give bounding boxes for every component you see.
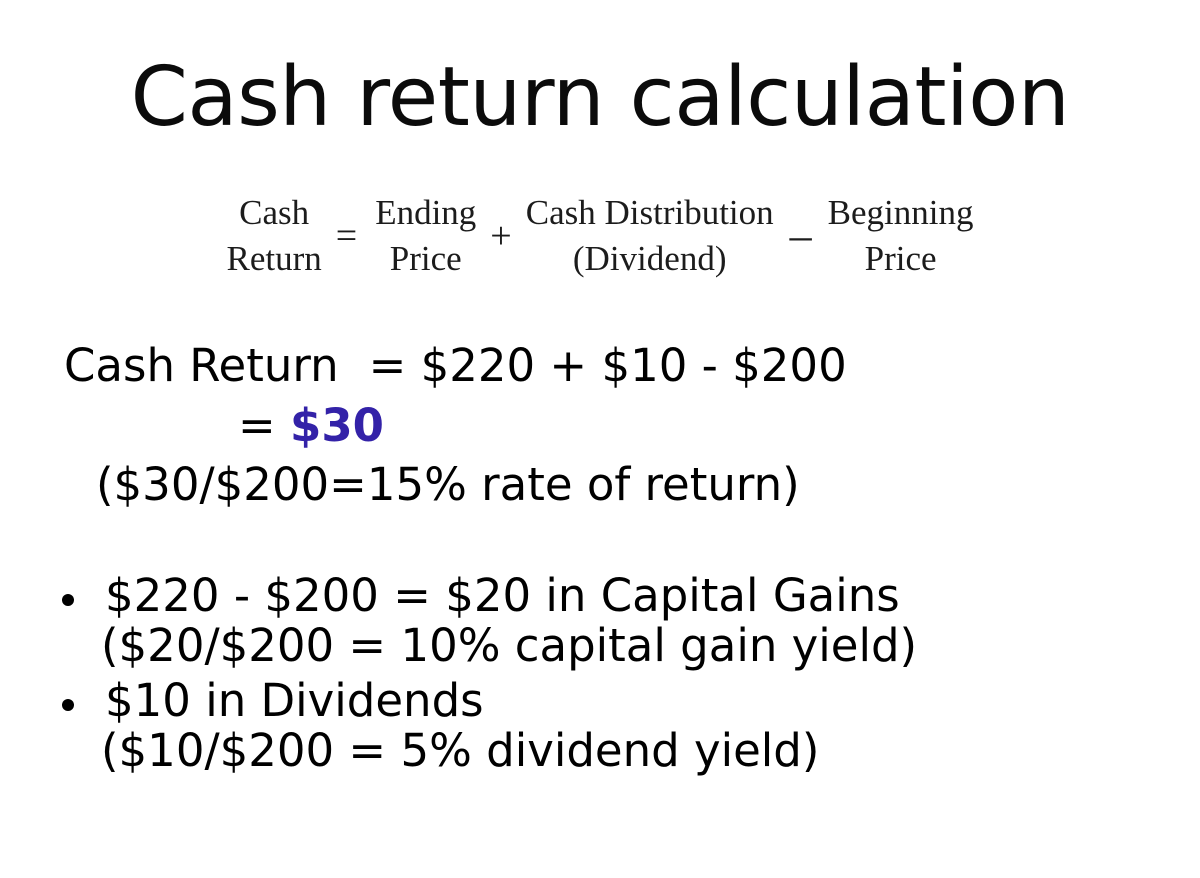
bullet-main-text: $220 - $200 = $20 in Capital Gains: [105, 572, 1200, 620]
calculation-line-result: = $30: [0, 390, 1200, 450]
bullet-sub-text: ($20/$200 = 10% capital gain yield): [101, 620, 1200, 670]
formula-operator-plus: +: [476, 217, 525, 255]
calculation-expression: = $220 + $10 - $200: [369, 339, 847, 392]
bullet-sub-text: ($10/$200 = 5% dividend yield): [101, 725, 1200, 775]
calculation-line-expression: Cash Return= $220 + $10 - $200: [0, 340, 1200, 390]
calculation-result-value: $30: [290, 399, 384, 452]
formula-operator-equals: =: [322, 217, 371, 255]
list-item: $220 - $200 = $20 in Capital Gains ($20/…: [0, 572, 1200, 669]
calculation-rate-of-return: ($30/$200=15% rate of return): [0, 449, 1200, 509]
bullet-dot-icon: [62, 699, 74, 711]
worked-calculation: Cash Return= $220 + $10 - $200 = $30 ($3…: [0, 340, 1200, 509]
formula-term-line-1: Cash: [239, 190, 309, 236]
formula-term-line-2: Return: [226, 236, 321, 282]
bullet-main-text: $10 in Dividends: [105, 677, 1200, 725]
formula-term-cash-return: Cash Return: [226, 190, 321, 282]
formula-term-line-1: Cash Distribution: [526, 190, 774, 236]
formula-term-line-2: Price: [865, 236, 937, 282]
list-item: $10 in Dividends ($10/$200 = 5% dividend…: [0, 677, 1200, 774]
formula-term-beginning-price: Beginning Price: [828, 190, 974, 282]
bullet-dot-icon: [62, 594, 74, 606]
formula-term-line-1: Ending: [375, 190, 476, 236]
breakdown-bullet-list: $220 - $200 = $20 in Capital Gains ($20/…: [0, 572, 1200, 783]
formula-term-cash-distribution: Cash Distribution (Dividend): [526, 190, 774, 282]
slide-canvas: Cash return calculation Cash Return = En…: [0, 0, 1200, 878]
calculation-result-equals: =: [238, 399, 276, 452]
formula-operator-minus: –: [774, 214, 828, 258]
calculation-label: Cash Return: [64, 339, 339, 392]
formula-term-line-1: Beginning: [828, 190, 974, 236]
formula-term-ending-price: Ending Price: [375, 190, 476, 282]
page-title: Cash return calculation: [0, 56, 1200, 140]
formula-term-line-2: Price: [390, 236, 462, 282]
cash-return-formula: Cash Return = Ending Price + Cash Distri…: [0, 190, 1200, 282]
formula-term-line-2: (Dividend): [573, 236, 727, 282]
